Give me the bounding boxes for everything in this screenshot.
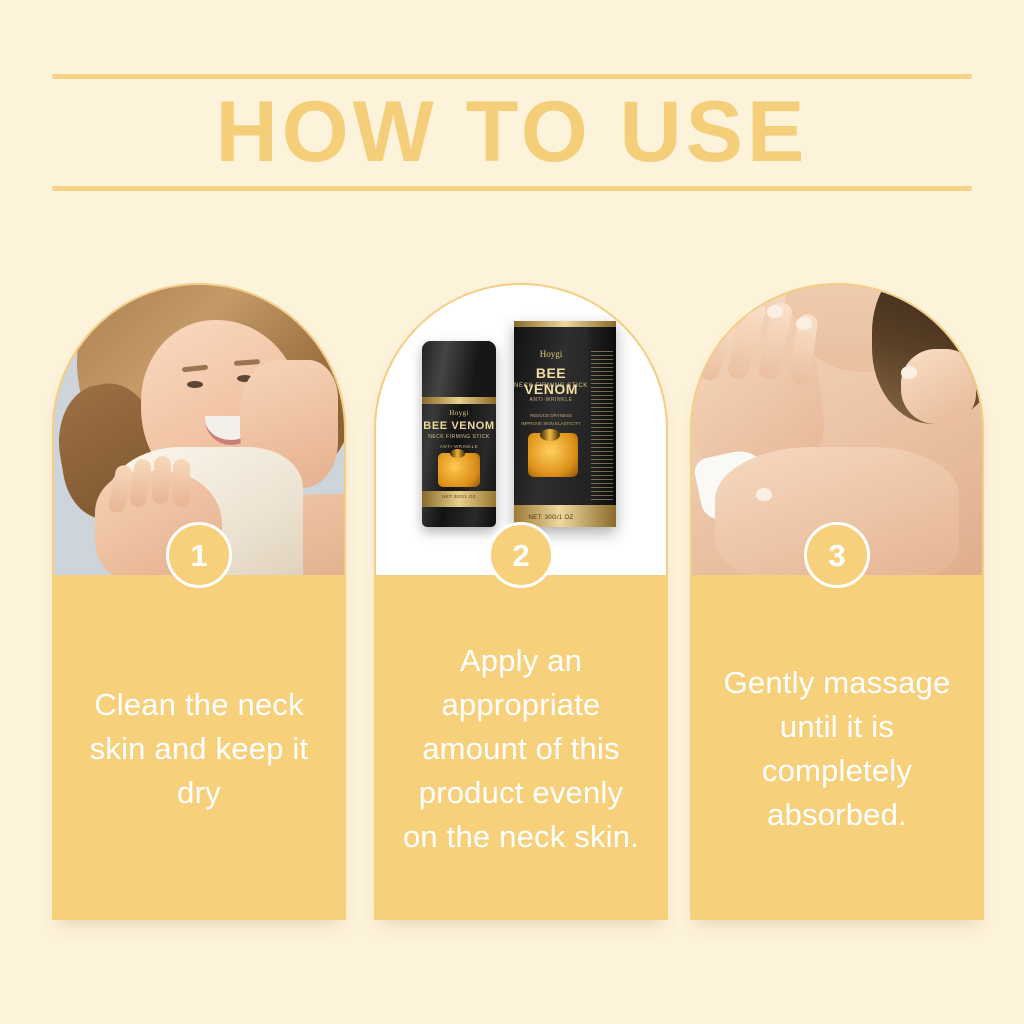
- box-tagline: ANTI-WRINKLE: [514, 397, 588, 403]
- header-rule-bottom: [52, 186, 972, 191]
- box-bee-icon: [540, 429, 560, 441]
- stick-net-weight: NET 30G/1 OZ: [422, 494, 496, 499]
- page-title: HOW TO USE: [0, 80, 1024, 184]
- stick-product-name: BEE VENOM: [422, 420, 496, 432]
- box-claim-2: IMPROVE SKIN ELASTICITY: [514, 421, 588, 426]
- stick-honeycomb-graphic: [438, 453, 480, 487]
- step-card-3: 3 Gently massage until it is completely …: [690, 283, 984, 920]
- step-number-badge-3: 3: [804, 522, 870, 588]
- header: HOW TO USE: [0, 0, 1024, 250]
- step-number-2: 2: [512, 540, 529, 571]
- step-number-1: 1: [190, 540, 207, 571]
- step-card-2: Hoygi BEE VENOM NECK FIRMING STICK ANTI-…: [374, 283, 668, 920]
- step-caption-3: Gently massage until it is completely ab…: [704, 661, 970, 837]
- step-card-1: 1 Clean the neck skin and keep it dry: [52, 283, 346, 920]
- step-number-badge-1: 1: [166, 522, 232, 588]
- step-number-3: 3: [828, 540, 845, 571]
- box-fine-print: [591, 351, 613, 501]
- box-product-name: BEE VENOM: [514, 365, 588, 397]
- product-box: Hoygi BEE VENOM NECK FIRMING STICK ANTI-…: [514, 321, 616, 527]
- how-to-use-infographic: HOW TO USE: [0, 0, 1024, 1024]
- step-caption-2: Apply an appropriate amount of this prod…: [388, 639, 654, 859]
- stick-bee-icon: [450, 449, 465, 458]
- box-claim-1: REDUCE DRYNESS: [514, 413, 588, 418]
- box-net-weight: NET: 30G/1 OZ: [514, 515, 588, 521]
- stick-cap: [422, 341, 496, 397]
- header-rule-top: [52, 74, 972, 79]
- fingernail-1: [712, 311, 728, 324]
- finger-3: [151, 456, 171, 505]
- product-stick: Hoygi BEE VENOM NECK FIRMING STICK ANTI-…: [422, 341, 496, 527]
- steps-container: 1 Clean the neck skin and keep it dry Ho…: [0, 283, 1024, 933]
- stick-subtitle: NECK FIRMING STICK: [422, 434, 496, 440]
- thumb-shape: [901, 349, 976, 424]
- step-caption-1: Clean the neck skin and keep it dry: [66, 683, 332, 815]
- eye-left: [187, 381, 203, 388]
- fingernail-4: [796, 317, 812, 330]
- box-brand: Hoygi: [514, 349, 588, 359]
- stick-gold-band-top: [422, 397, 496, 404]
- finger-4: [173, 459, 190, 507]
- fingernail-5: [901, 366, 917, 379]
- box-subtitle: NECK FIRMING STICK: [514, 383, 588, 389]
- stick-brand: Hoygi: [422, 409, 496, 417]
- box-gold-edge: [514, 321, 616, 327]
- fingernail-6: [756, 488, 772, 501]
- step-number-badge-2: 2: [488, 522, 554, 588]
